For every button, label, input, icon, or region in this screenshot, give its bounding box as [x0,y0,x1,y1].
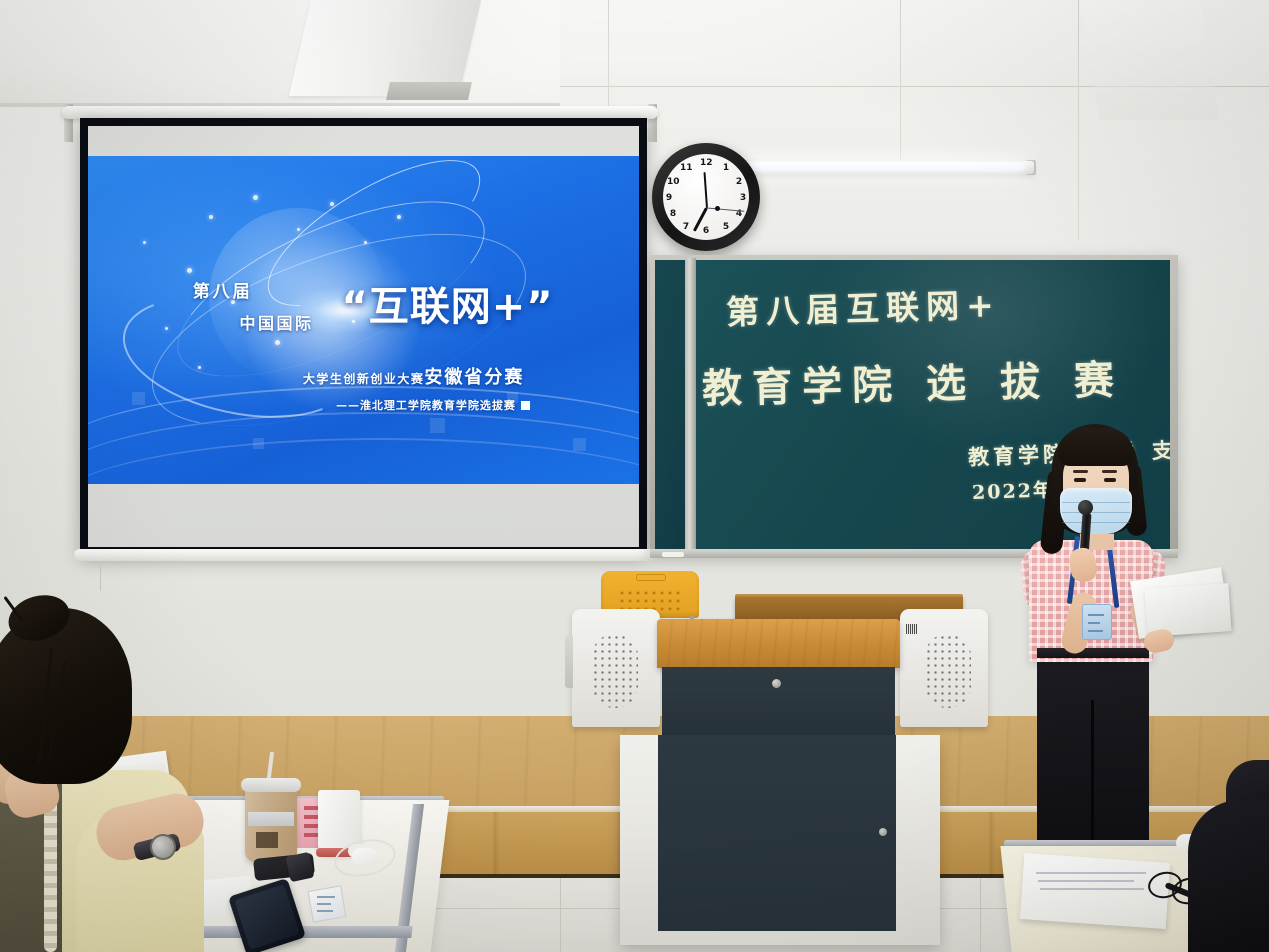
clock-number-10: 10 [667,177,679,187]
blackboard-line-2: 教育学院 选 拔 赛 [701,348,1124,415]
presenter-eyebrow-left [1073,470,1088,473]
clock-number-6: 6 [700,226,712,236]
clock-number-1: 1 [720,163,732,173]
slide-main-title: “互联网+” [341,274,553,332]
clock-number-12: 12 [700,158,712,168]
microphone-head-icon[interactable] [1078,500,1093,515]
podium-drawer[interactable] [662,667,895,735]
clock-number-7: 7 [680,222,692,232]
chalk-piece [662,552,684,557]
clock-center-hub [715,206,720,211]
mask-pleat [1062,502,1130,503]
card-text-line [317,903,331,905]
podium-drawer-lock-icon[interactable] [772,679,781,688]
speaker-grille-icon-right [925,634,971,708]
speaker-grille-icon-left [592,634,638,708]
wall-seam-mid [900,0,901,160]
floor-tile-line [980,878,981,952]
slide-subtitle-small: 大学生创新创业大赛 [303,372,425,386]
podium-cabinet-door[interactable] [658,735,896,931]
mask-pleat [1062,522,1130,523]
mask-pleat [1062,512,1130,513]
floor-tile-line [560,878,561,952]
clock-number-3: 3 [737,193,749,203]
fluorescent-tube-light [749,163,1025,171]
clock-number-11: 11 [680,163,692,173]
wall-seam-right [1078,0,1079,240]
clock-number-8: 8 [667,209,679,219]
milk-tea-label-band [248,812,294,826]
slide-footer-text: ——淮北理工学院教育学院选拔赛 [336,399,516,412]
clock-minute-hand [703,172,708,208]
presenter-fringe [1058,428,1134,466]
slide-square-bullet-icon [521,401,530,410]
screen-pull-cord [100,561,101,591]
presenter-papers-front [1144,583,1231,637]
chair-perforation-pattern [618,589,682,611]
blackboard-line-1: 第八届互联网+ [725,278,1001,334]
right-person-body [1188,800,1269,952]
document-text-line [1040,888,1144,890]
slide-text-block: 第八届 中国国际 “互联网+” 大学生创新创业大赛安徽省分赛 ——淮北理工学院教… [88,156,639,484]
presenter-eyebrow-right [1102,470,1117,473]
key-fob-icon [286,852,315,882]
card-text-line [317,910,333,912]
badge-text-line [1088,622,1100,624]
blackboard-panel-left [655,260,685,550]
card-text-line [317,896,335,898]
badge-text-line [1088,630,1103,632]
podium-cabinet-lock-icon[interactable] [879,828,887,836]
slide-org-text: 中国国际 [240,310,314,334]
presenter-waistband [1037,648,1149,658]
slide-subtitle-bold: 安徽省分赛 [424,367,524,388]
presenter-eye-right [1104,478,1116,482]
milk-tea-logo-icon [256,832,278,848]
document-text-line [1036,872,1146,874]
clock-number-2: 2 [733,177,745,187]
blackboard-slide-rail [685,258,696,552]
clock-number-9: 9 [663,193,675,203]
slide-edition-text: 第八届 [193,277,253,302]
milk-tea-lid [241,778,301,792]
chair-handle-slot [636,574,666,581]
classroom-scene: 第八届 中国国际 “互联网+” 大学生创新创业大赛安徽省分赛 ——淮北理工学院教… [0,0,1269,952]
carton-label-text [304,806,318,840]
clock-number-5: 5 [720,222,732,232]
document-text-line [1038,880,1134,882]
napkin [352,848,378,866]
slide-footer-line: ——淮北理工学院教育学院选拔赛 [336,397,530,413]
presenter-eye-left [1074,478,1086,482]
podium-barcode-label [906,624,917,634]
badge-text-line [1088,614,1104,616]
podium-side-tab [565,636,573,688]
podium-wood-desktop [657,619,900,668]
right-desk-document [1020,853,1170,929]
projection-screen: 第八届 中国国际 “互联网+” 大学生创新创业大赛安徽省分赛 ——淮北理工学院教… [80,118,647,555]
clock-face: 12 1 2 3 4 5 6 7 8 9 10 11 [663,154,749,240]
slide-content: 第八届 中国国际 “互联网+” 大学生创新创业大赛安徽省分赛 ——淮北理工学院教… [88,156,639,484]
slide-subtitle-line: 大学生创新创业大赛安徽省分赛 [303,363,525,389]
screen-surface: 第八届 中国国际 “互联网+” 大学生创新创业大赛安徽省分赛 ——淮北理工学院教… [88,126,639,547]
duct-end-cap [386,82,472,100]
wall-clock: 12 1 2 3 4 5 6 7 8 9 10 11 [652,143,760,251]
screen-bottom-weight-bar [74,549,658,561]
presenter-face-mask [1060,488,1132,534]
ceiling-beam-right [1080,0,1219,120]
